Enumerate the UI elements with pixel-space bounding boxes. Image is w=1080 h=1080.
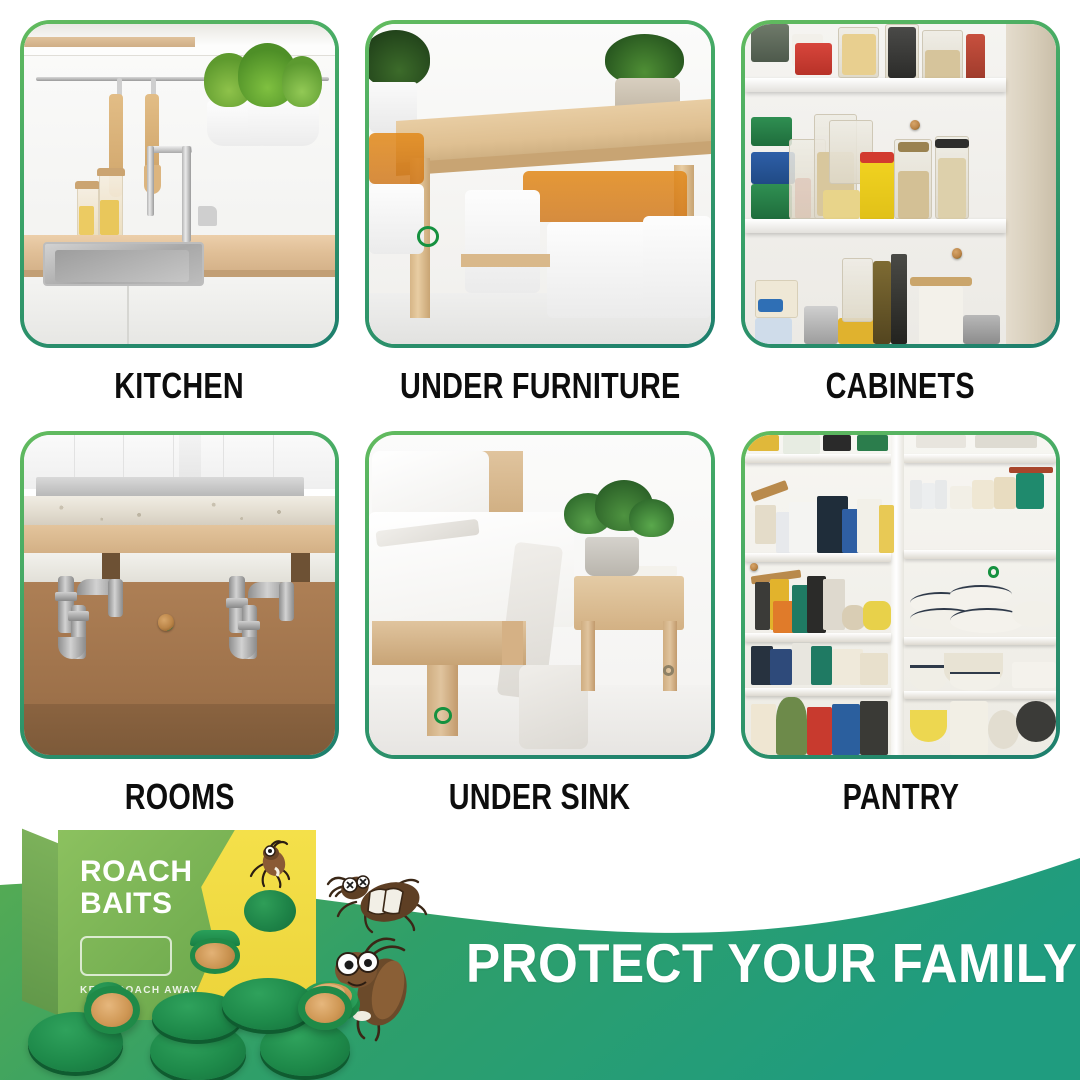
bait-disc-icon [417,226,440,247]
banner-headline: PROTECT YOUR FAMILY [466,931,1024,995]
placement-cell-kitchen[interactable]: KITCHEN [20,20,339,419]
photo-frame-under-furniture[interactable] [365,20,716,348]
placement-label-under-furniture: UNDER FURNITURE [400,365,680,407]
bait-disc-icon [158,614,174,631]
dead-roach-icon [322,858,437,940]
placement-cell-cabinets[interactable]: CABINETS [741,20,1060,419]
photo-frame-under-sink[interactable] [365,431,716,759]
photo-frame-rooms[interactable] [20,431,339,759]
bait-disc-icon [663,665,674,675]
bait-disc-icon [910,120,920,130]
bait-disc-icon [190,938,240,974]
photo-frame-kitchen[interactable] [20,20,339,348]
placement-grid: KITCHEN [0,0,1080,830]
product-box-side [22,829,60,1016]
placement-cell-pantry[interactable]: PANTRY [741,431,1060,830]
placement-label-cabinets: CABINETS [826,365,975,407]
bait-disc-icon [298,986,352,1030]
product-box-title: ROACH BAITS [80,856,193,920]
running-roach-icon [240,838,296,890]
photo-rooms [24,435,335,755]
photo-under-furniture [369,24,712,344]
photo-frame-pantry[interactable] [741,431,1060,759]
placement-cell-under-furniture[interactable]: UNDER FURNITURE [365,20,716,419]
bait-disc-icon [988,566,999,578]
placement-cell-under-sink[interactable]: UNDER SINK [365,431,716,830]
photo-frame-cabinets[interactable] [741,20,1060,348]
bait-disc-icon [84,986,140,1034]
photo-pantry [745,435,1056,755]
photo-cabinets [745,24,1056,344]
bait-disc-icon [244,890,296,932]
photo-kitchen [24,24,335,344]
bait-disc-icon [434,707,452,724]
product-box-placeholder-rect [80,936,172,976]
product-box-title-line1: ROACH [80,856,193,888]
product-box-title-line2: BAITS [80,888,193,920]
placement-cell-rooms[interactable]: ROOMS [20,431,339,830]
placement-label-kitchen: KITCHEN [115,365,245,407]
photo-under-sink [369,435,712,755]
